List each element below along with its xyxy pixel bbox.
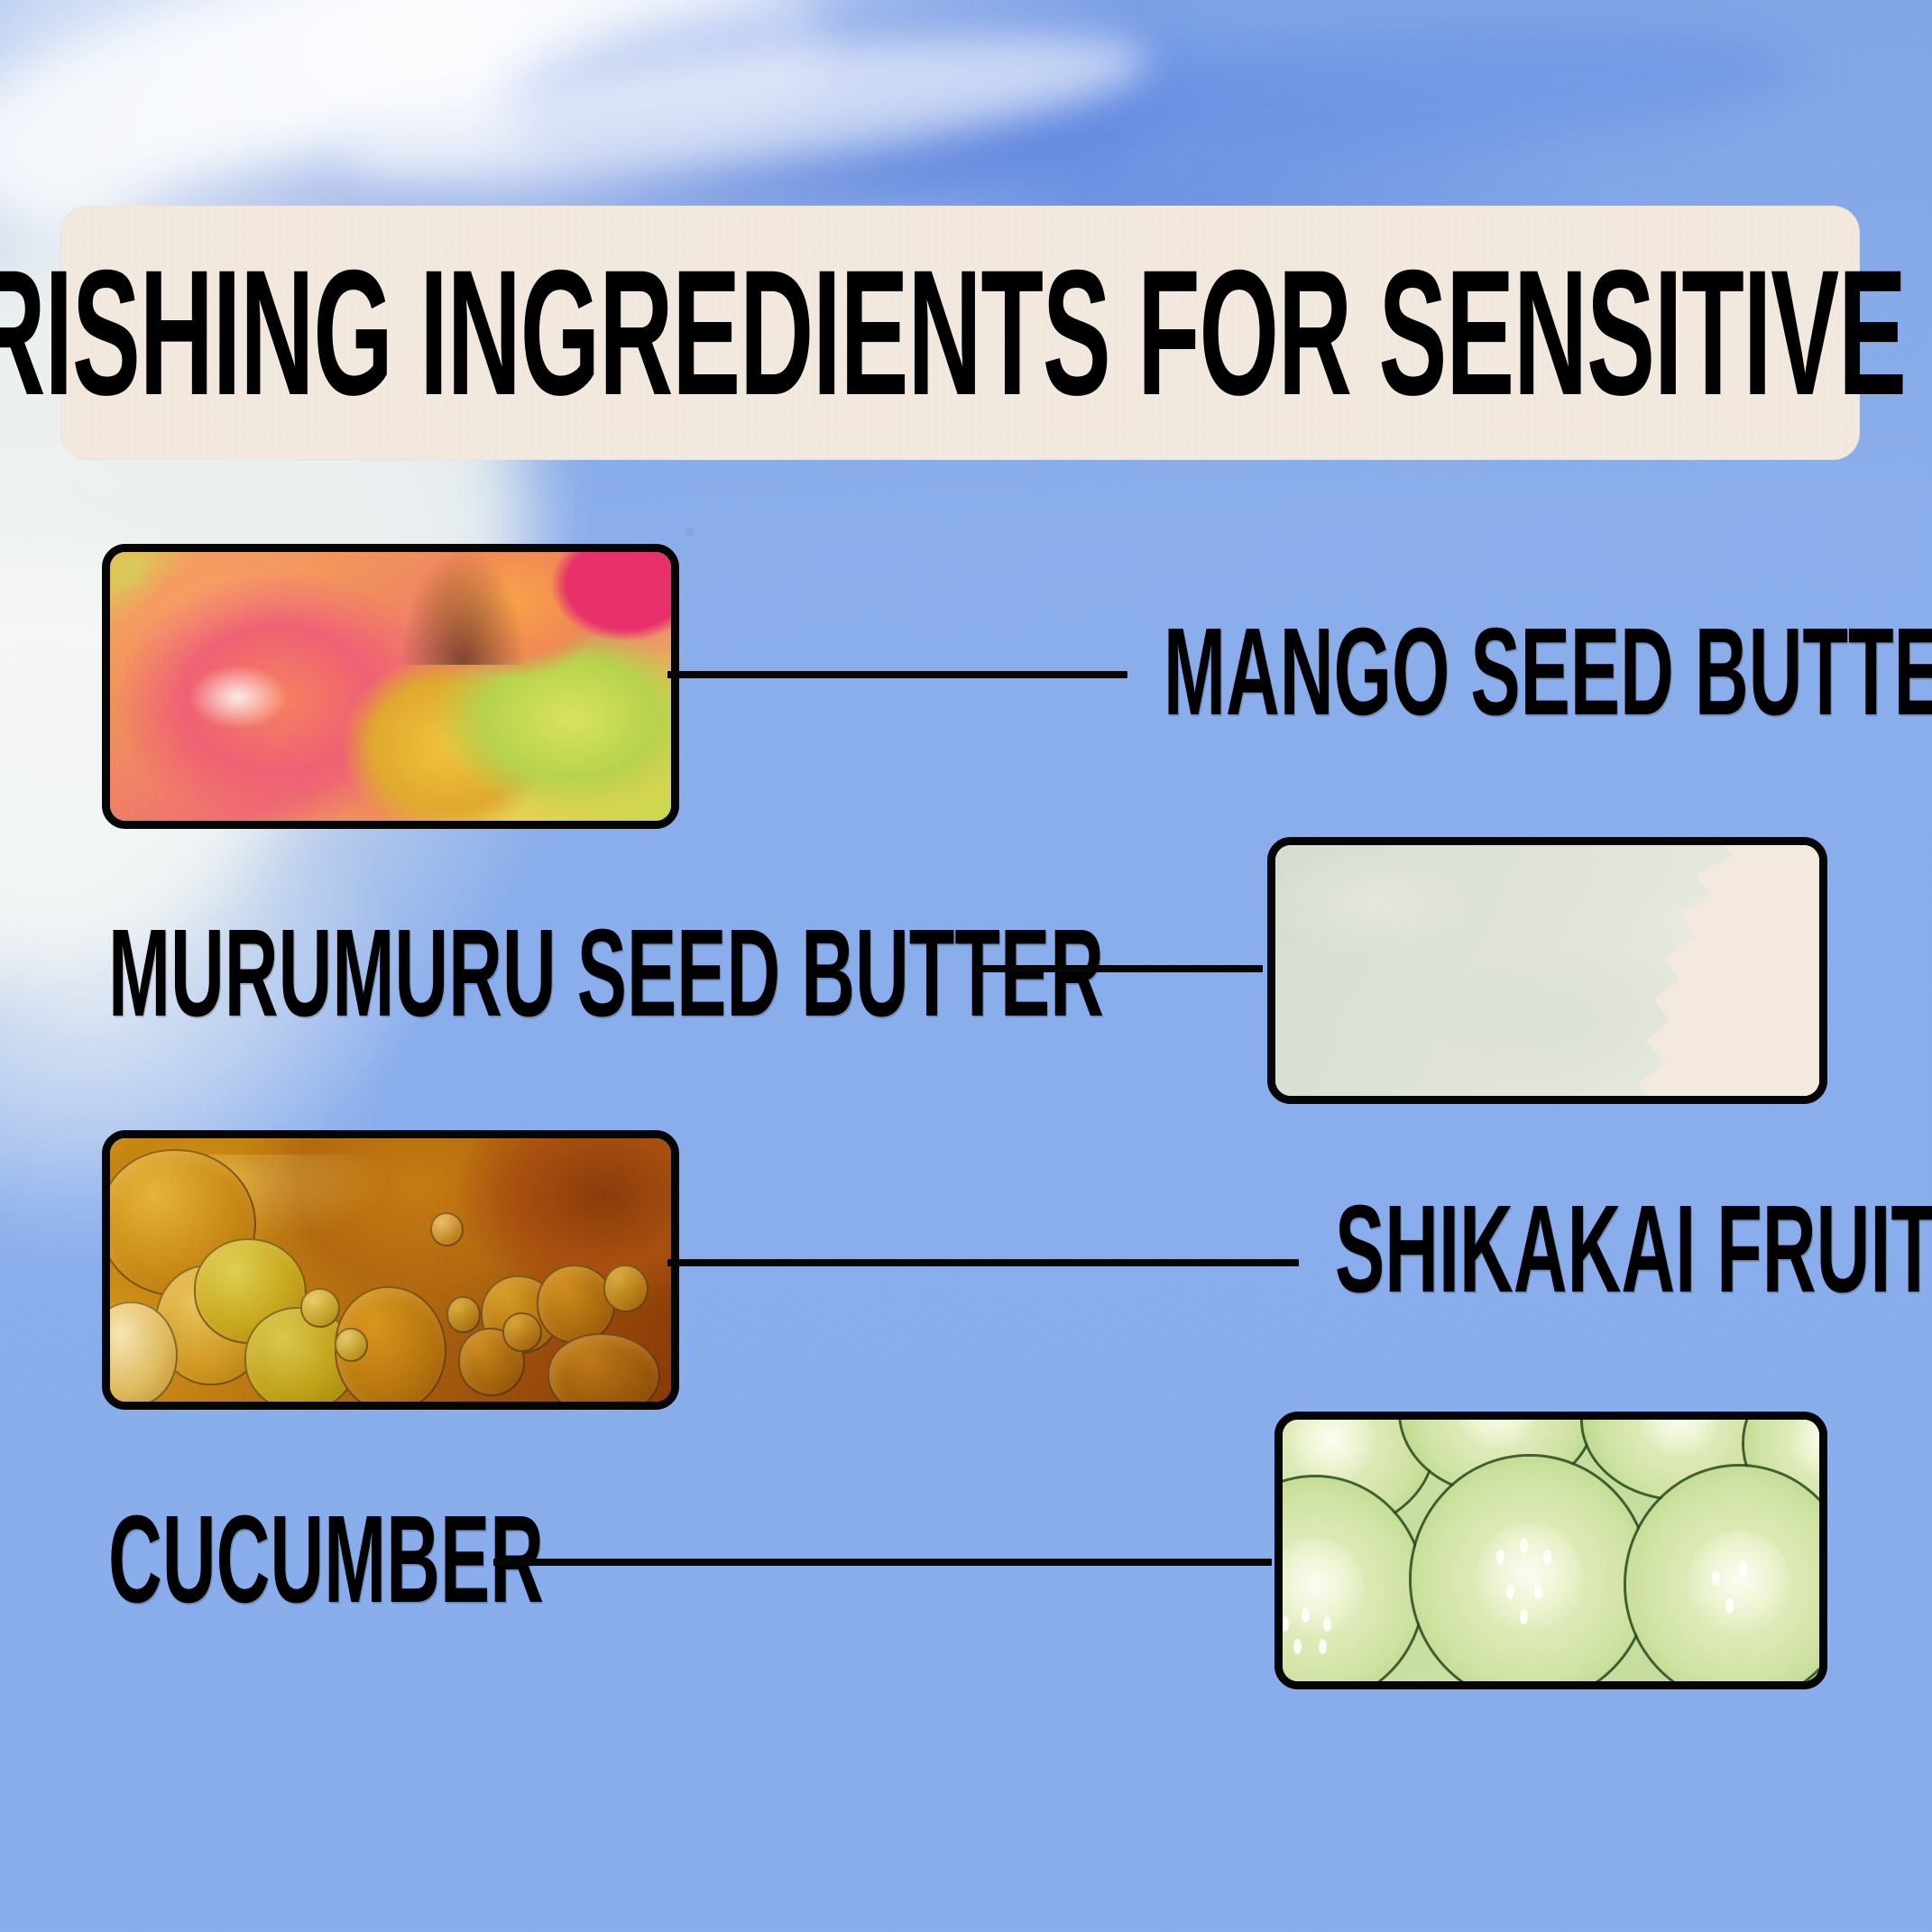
- connector-line-mango-seed-butter: [667, 671, 1127, 678]
- oil-bubble: [430, 1212, 464, 1247]
- ingredient-label-shikakai-fruit: SHIKAKAI FRUIT: [1335, 1187, 1932, 1311]
- oil-bubble: [300, 1288, 340, 1328]
- oil-bubble: [446, 1296, 480, 1333]
- ingredient-image-cucumber: [1274, 1412, 1827, 1689]
- ingredient-image-murumuru-seed-butter: [1267, 837, 1827, 1104]
- mango-shadow: [401, 552, 525, 665]
- cucumber-slice: [1412, 1457, 1648, 1689]
- title-card: NOURISHING INGREDIENTS FOR SENSITIVE SKI…: [60, 206, 1860, 460]
- ingredient-label-murumuru-seed-butter: MURUMURU SEED BUTTER: [108, 911, 1104, 1035]
- oil-bubble: [335, 1328, 368, 1362]
- ingredient-label-cucumber: CUCUMBER: [108, 1497, 544, 1622]
- connector-line-cucumber: [493, 1559, 1272, 1566]
- ingredient-label-mango-seed-butter: MANGO SEED BUTTER: [1164, 610, 1932, 734]
- ingredients-infographic: NOURISHING INGREDIENTS FOR SENSITIVE SKI…: [0, 0, 1932, 1932]
- ingredient-image-shikakai-fruit: [102, 1130, 679, 1410]
- connector-line-murumuru-seed-butter: [972, 965, 1263, 972]
- oil-bubble: [603, 1265, 649, 1312]
- mango-highlight: [189, 665, 288, 730]
- oil-bubble: [537, 1265, 615, 1344]
- page-title: NOURISHING INGREDIENTS FOR SENSITIVE SKI…: [0, 260, 1932, 406]
- connector-line-shikakai-fruit: [667, 1259, 1299, 1266]
- oil-bubble: [502, 1312, 542, 1352]
- ingredient-image-mango-seed-butter: [102, 544, 679, 829]
- oil-bubble: [547, 1333, 659, 1410]
- background-speck: [685, 528, 695, 537]
